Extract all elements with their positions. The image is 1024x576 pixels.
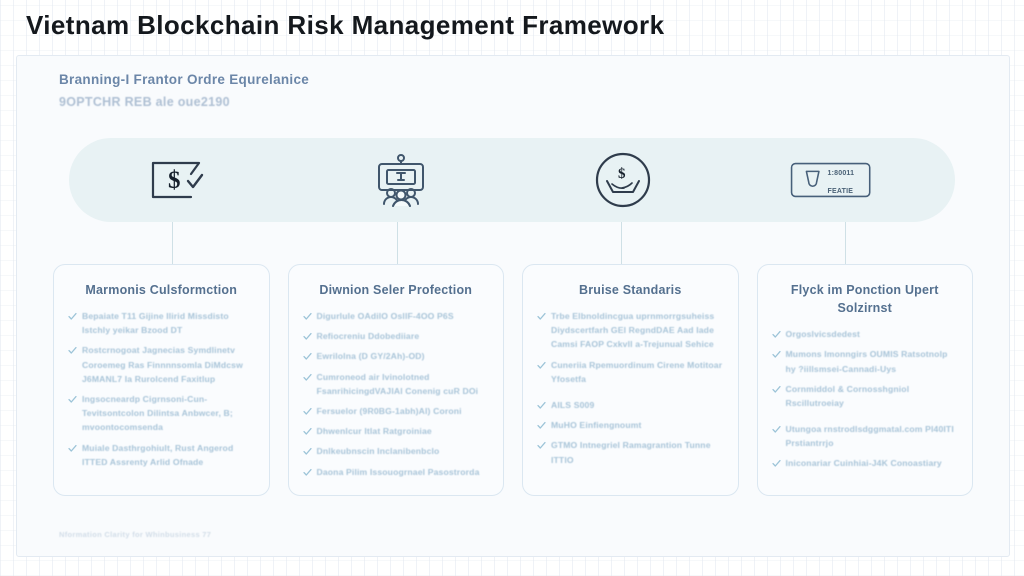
check-icon	[537, 312, 546, 321]
list-item-text: Fersuelor (9R0BG-1abh)Al) Coroni	[317, 404, 462, 418]
list-item-text: Muiale Dasthrgohiult, Rust Angerod ITTED…	[82, 441, 255, 469]
check-icon	[303, 468, 312, 477]
list-item: Cuneriia Rpemuordinum Cirene Motitoar Yf…	[537, 358, 724, 386]
check-icon	[537, 441, 546, 450]
content-panel: Branning-I Frantor Ordre Equrelanice 9OP…	[16, 55, 1010, 557]
list-item-text: Cornmiddol & Cornosshgniol Rscillutroeia…	[786, 382, 959, 410]
list-item: Cumroneod air Ivinolotned FsanrihicingdV…	[303, 370, 490, 398]
list-item-text: Iniconariar Cuinhiai-J4K Conoastiary	[786, 456, 942, 470]
check-icon	[537, 401, 546, 410]
list-item: Dnlkeubnscin Inclanibenbclo	[303, 444, 490, 458]
check-icon	[772, 350, 781, 359]
list-item: Ewrilolna (D GY/2Ah)-OD)	[303, 349, 490, 363]
list-item: Muiale Dasthrgohiult, Rust Angerod ITTED…	[68, 441, 255, 469]
check-icon	[68, 444, 77, 453]
connector-1	[172, 222, 173, 266]
dollar-check-icon: $	[137, 149, 223, 211]
check-icon	[68, 346, 77, 355]
connector-4	[845, 222, 846, 266]
list-item-text: Digurlule OAdilO OsllF-4OO P6S	[317, 309, 454, 323]
list-item: Orgoslvicsdedest	[772, 327, 959, 341]
subtitle-block: Branning-I Frantor Ordre Equrelanice 9OP…	[59, 72, 309, 109]
check-icon	[303, 332, 312, 341]
bullet-list: Digurlule OAdilO OsllF-4OO P6S Refiocren…	[303, 309, 490, 479]
list-item: Dhwenlcur Itlat Ratgroiniae	[303, 424, 490, 438]
banner-cell-1: $	[69, 149, 291, 211]
list-item: AILS S009	[537, 398, 724, 412]
list-item-text: Bepaiate T11 Gijine Ilirid Missdisto Ist…	[82, 309, 255, 337]
svg-text:$: $	[618, 166, 626, 182]
card-enforcement[interactable]: Flyck im Ponction Upert Solzirnst Orgosl…	[757, 264, 974, 496]
card-title: Flyck im Ponction Upert Solzirnst	[772, 281, 959, 317]
list-item-text: Ewrilolna (D GY/2Ah)-OD)	[317, 349, 425, 363]
connector-3	[621, 222, 622, 266]
check-icon	[303, 373, 312, 382]
list-item-text: Cuneriia Rpemuordinum Cirene Motitoar Yf…	[551, 358, 724, 386]
list-item: Fersuelor (9R0BG-1abh)Al) Coroni	[303, 404, 490, 418]
check-icon	[537, 421, 546, 430]
list-item-text: Rostcrnogoat Jagnecias Symdlinetv Coroem…	[82, 343, 255, 386]
list-item-text: Trbe Elbnoldincgua uprnmorrgsuheiss Diyd…	[551, 309, 724, 352]
page-title: Vietnam Blockchain Risk Management Frame…	[26, 10, 664, 41]
list-item: Daona Pilim Issouogrnael Pasostrorda	[303, 465, 490, 479]
check-icon	[68, 312, 77, 321]
svg-text:$: $	[168, 167, 181, 194]
list-item: Trbe Elbnoldincgua uprnmorrgsuheiss Diyd…	[537, 309, 724, 352]
list-item-text: Daona Pilim Issouogrnael Pasostrorda	[317, 465, 480, 479]
infographic-page: Vietnam Blockchain Risk Management Frame…	[0, 0, 1024, 576]
check-icon	[537, 361, 546, 370]
check-icon	[772, 385, 781, 394]
connector-2	[397, 222, 398, 266]
hand-holding-dollar-circle-icon: $	[580, 149, 666, 211]
presentation-audience-icon	[358, 149, 444, 211]
subtitle-primary: Branning-I Frantor Ordre Equrelanice	[59, 72, 309, 87]
list-item: Refiocreniu Ddobediiare	[303, 329, 490, 343]
list-item: Ingsocneardp Cigrnsoni-Cun-Tevitsontcolo…	[68, 392, 255, 435]
card-grid: Marmonis Culsformction Bepaiate T11 Giji…	[53, 264, 973, 496]
certificate-badge-icon: 1:80011 FEATIE	[790, 149, 898, 211]
list-item-text: Refiocreniu Ddobediiare	[317, 329, 420, 343]
check-icon	[772, 330, 781, 339]
list-item-text: AILS S009	[551, 398, 594, 412]
check-icon	[303, 447, 312, 456]
list-item: Cornmiddol & Cornosshgniol Rscillutroeia…	[772, 382, 959, 410]
check-icon	[772, 425, 781, 434]
list-item: Utungoa rnstrodlsdggmatal.com Pl40ITI Pr…	[772, 422, 959, 450]
icon-banner: $	[69, 138, 955, 222]
bullet-list: Orgoslvicsdedest Mumons Imonngirs OUMIS …	[772, 327, 959, 470]
card-standards[interactable]: Bruise Standaris Trbe Elbnoldincgua uprn…	[522, 264, 739, 496]
list-item: Rostcrnogoat Jagnecias Symdlinetv Coroem…	[68, 343, 255, 386]
card-title: Diwnion Seler Profection	[303, 281, 490, 299]
check-icon	[772, 459, 781, 468]
check-icon	[303, 407, 312, 416]
badge-line-1: 1:80011	[828, 170, 855, 177]
list-item-text: Mumons Imonngirs OUMIS Ratsotnolp hy ?ii…	[786, 347, 959, 375]
card-compliance[interactable]: Marmonis Culsformction Bepaiate T11 Giji…	[53, 264, 270, 496]
list-item-text: Dhwenlcur Itlat Ratgroiniae	[317, 424, 432, 438]
check-icon	[303, 427, 312, 436]
badge-line-2: FEATIE	[828, 188, 854, 195]
card-title: Marmonis Culsformction	[68, 281, 255, 299]
list-item: Digurlule OAdilO OsllF-4OO P6S	[303, 309, 490, 323]
subtitle-secondary: 9OPTCHR REB ale oue2190	[59, 95, 309, 109]
list-item: MuHO Einfiengnoumt	[537, 418, 724, 432]
card-title: Bruise Standaris	[537, 281, 724, 299]
list-item: Bepaiate T11 Gijine Ilirid Missdisto Ist…	[68, 309, 255, 337]
list-item: Iniconariar Cuinhiai-J4K Conoastiary	[772, 456, 959, 470]
list-item-text: Ingsocneardp Cigrnsoni-Cun-Tevitsontcolo…	[82, 392, 255, 435]
list-item: GTMO Intnegriel Ramagrantion Tunne ITTlO	[537, 438, 724, 466]
banner-cell-3: $	[512, 149, 734, 211]
list-item-text: Dnlkeubnscin Inclanibenbclo	[317, 444, 440, 458]
bullet-list: Trbe Elbnoldincgua uprnmorrgsuheiss Diyd…	[537, 309, 724, 467]
list-item-text: Cumroneod air Ivinolotned FsanrihicingdV…	[317, 370, 490, 398]
bullet-list: Bepaiate T11 Gijine Ilirid Missdisto Ist…	[68, 309, 255, 469]
list-item-text: Orgoslvicsdedest	[786, 327, 861, 341]
list-item: Mumons Imonngirs OUMIS Ratsotnolp hy ?ii…	[772, 347, 959, 375]
banner-cell-2	[291, 149, 513, 211]
list-item-text: GTMO Intnegriel Ramagrantion Tunne ITTlO	[551, 438, 724, 466]
list-item-text: Utungoa rnstrodlsdggmatal.com Pl40ITI Pr…	[786, 422, 959, 450]
list-item-text: MuHO Einfiengnoumt	[551, 418, 642, 432]
footer-note: Nformation Clarity for Whinbusiness 77	[59, 530, 211, 539]
check-icon	[303, 352, 312, 361]
card-investor-protection[interactable]: Diwnion Seler Profection Digurlule OAdil…	[288, 264, 505, 496]
check-icon	[68, 395, 77, 404]
banner-cell-4: 1:80011 FEATIE	[734, 149, 956, 211]
check-icon	[303, 312, 312, 321]
